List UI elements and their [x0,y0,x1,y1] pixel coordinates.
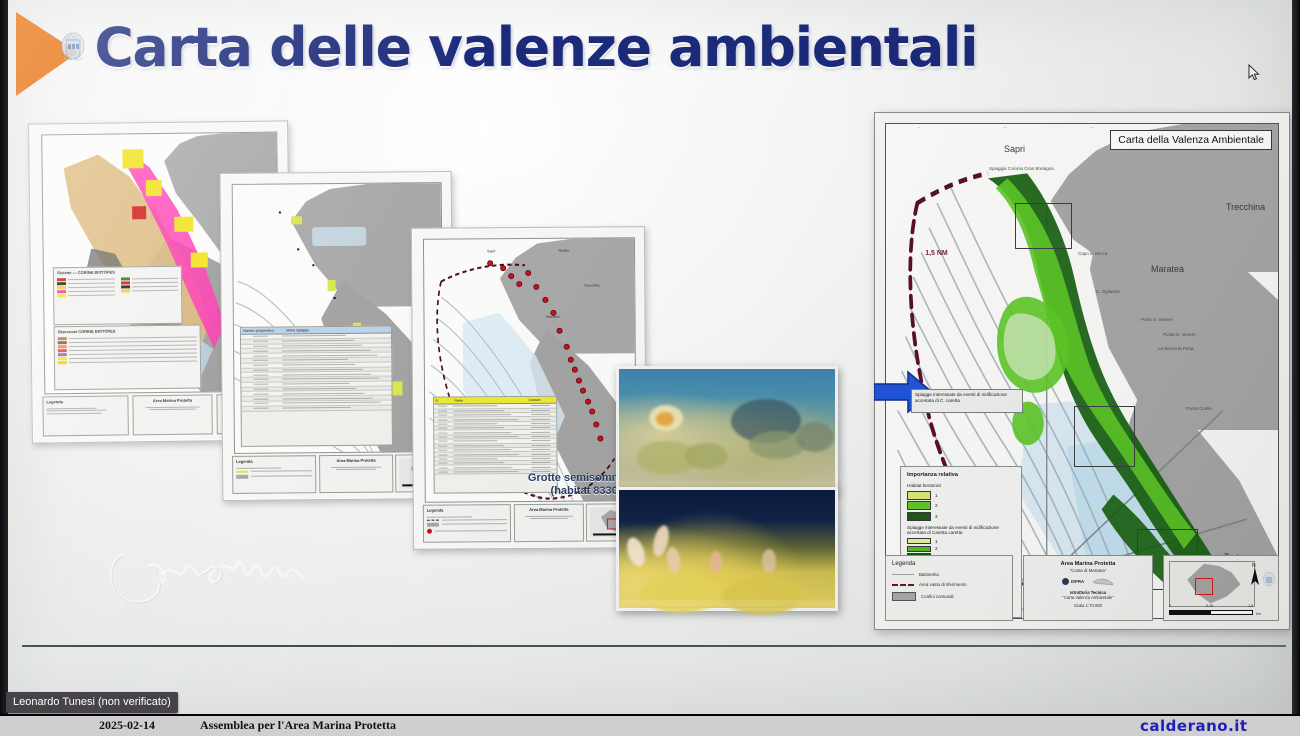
photo-coralligeno-bottom[interactable] [616,487,838,611]
thumbnail-panel-amp: Area Marina Protetta [132,394,212,435]
place-label: Sapri [1004,144,1025,154]
presentation-slide: Carta delle valenze ambientali [8,0,1292,714]
place-label: Trecchina [1226,202,1265,212]
grid-tick: — [917,125,920,129]
gray-fill-icon [892,592,916,601]
thumbnail-panel-amp: Area Marina Protetta [514,504,584,542]
scale-bar [1169,610,1253,615]
grid-tick: — [1004,125,1007,129]
place-label-small: La Secca la Porta [1158,346,1194,351]
place-label-small: Porto S. Venere [1141,317,1173,322]
color-swatch [907,501,931,510]
mouse-pointer-icon [1248,64,1260,81]
thumbnail-map-grotte[interactable]: Sapri Rivello Trecchina Maratea N. Nome … [411,226,647,550]
footer-event-title: Assemblea per l'Area Marina Protetta [200,718,396,733]
coat-of-arms-icon [60,28,86,62]
nautical-mile-label: 1,5 NM [925,250,948,257]
color-swatch [907,538,931,544]
map-title-box: Carta della Valenza Ambientale [1110,130,1272,150]
place-label-small: Punta S. Venere [1163,332,1196,337]
main-map-valenza-ambientale[interactable]: Carta della Valenza Ambientale SapriTrec… [874,112,1290,630]
panel-area-marina-protetta: Area Marina Protetta "Costa di Maratea" … [1023,555,1153,621]
ispra-logo-icon [1062,578,1069,585]
grid-tick: — [1262,125,1265,129]
thin-line-icon [892,574,914,575]
cave-point-marker [563,344,569,350]
locator-extent-box [1195,578,1213,595]
legend-swatch-row: 1 [907,491,1015,500]
cave-point-marker [500,265,506,271]
legend-row-confini: Confini comunali [892,592,1006,601]
callout-spiagge-nidificazione: Spiagge interessate da eventi di nidific… [911,389,1023,413]
cave-point-marker [568,357,574,363]
cave-point-marker [550,310,556,316]
place-label-small: Punta Cirella [1186,406,1212,411]
screen-bezel-right [1292,0,1300,714]
site-watermark: calderano.it [1140,717,1248,735]
region-outline-icon [1092,577,1114,586]
legend-row-batimetria: Batimetria [892,572,1006,577]
grid-tick: — [1176,125,1179,129]
legend-group-label: Spiagge interessate da eventi di nidific… [907,525,1015,536]
color-swatch [907,512,931,521]
cave-point-marker [598,435,604,441]
grid-tick: — [1090,125,1093,129]
dashed-line-icon [892,584,914,586]
footer-bar: 2025-02-14 Assemblea per l'Area Marina P… [0,714,1300,736]
screen: Carta delle valenze ambientali [0,0,1300,736]
north-arrow-icon: N [1248,561,1262,587]
handwritten-signature-watermark [104,540,330,608]
color-swatch [907,546,931,552]
legend-swatch-value: 1 [935,493,938,498]
legend-swatch-value: 2 [935,546,938,551]
cave-point-marker [542,296,548,302]
thumbnail-panel-legenda: Legenda [232,455,316,494]
place-label: Maratea [1151,264,1184,274]
legend-swatch-row: 3 [907,512,1015,521]
slide-divider [22,645,1286,647]
speaker-name-badge: Leonardo Tunesi (non verificato) [6,692,178,713]
legend-swatch-row: 2 [907,546,1015,552]
legend-swatch-row: 1 [907,538,1015,544]
cave-point-marker [533,283,539,289]
legend-swatch-row: 2 [907,501,1015,510]
svg-text:N: N [1252,563,1256,569]
legend-swatch-value: 2 [935,503,938,508]
thumbnail-beach-table: Numero progressivo Nome spiaggia [240,326,393,447]
place-label-small: C. Ogliastro [1096,289,1120,294]
coat-of-arms-icon [1262,570,1276,588]
footer-date: 2025-02-14 [99,718,155,733]
panel-legenda: Legenda Batimetria Area vasta di riferim… [885,555,1013,621]
legend-group-label: Habitat bentonici [907,483,1015,489]
table-row [242,405,392,411]
page-title: Carta delle valenze ambientali [94,16,977,79]
legend-swatch-value: 3 [935,514,938,519]
cave-point-marker [487,260,493,266]
thumbnail-panel-legenda: Legenda [42,395,128,436]
thumbnail-panel-amp: Area Marina Protetta [319,455,393,494]
color-swatch [907,491,931,500]
thumbnail-panel-legenda: Legenda [423,504,511,543]
legend-swatch-value: 1 [935,539,938,544]
panel-locator: N 0 0,75 1,5 Km [1163,555,1279,621]
legend-row-area-vasta: Area vasta di riferimento [892,582,1006,587]
photo-coralligeno-top[interactable] [616,366,838,492]
place-label-small: Capo la Secca [1078,251,1107,256]
cave-point-marker [585,398,591,404]
place-label-small: Spiaggia Colonia Gran Bretagna [989,166,1054,171]
